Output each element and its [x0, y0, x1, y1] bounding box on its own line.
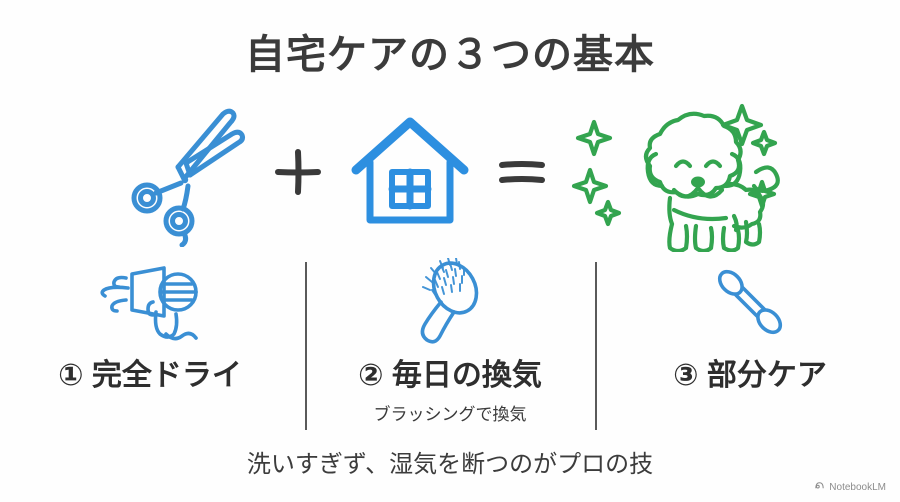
step-column-1: ① 完全ドライ — [0, 256, 300, 436]
notebooklm-label: NotebookLM — [829, 482, 886, 493]
plus-sign-icon — [267, 88, 329, 256]
hair-dryer-icon — [98, 256, 202, 348]
step-column-3: ③ 部分ケア — [600, 256, 900, 436]
step-label-1: ① 完全ドライ — [58, 350, 242, 394]
equation-row — [0, 88, 900, 256]
grooming-scissors-icon — [111, 88, 261, 256]
steps-row: ① 完全ドライ — [0, 256, 900, 436]
fluffy-dog-sparkles-icon — [559, 88, 789, 256]
equals-sign-icon — [491, 88, 553, 256]
house-icon — [335, 88, 485, 256]
notebooklm-watermark: NotebookLM — [814, 480, 886, 494]
cotton-swab-icon — [707, 256, 793, 348]
slide-canvas: 自宅ケアの３つの基本 — [0, 0, 900, 502]
hair-brush-icon — [405, 256, 495, 348]
step-label-3: ③ 部分ケア — [673, 350, 827, 394]
page-title: 自宅ケアの３つの基本 — [0, 22, 900, 80]
notebooklm-logo-icon — [814, 480, 825, 494]
step-label-2: ② 毎日の換気 — [358, 350, 542, 394]
step-column-2: ② 毎日の換気 ブラッシングで換気 — [300, 256, 600, 436]
footer-caption: 洗いすぎず、湿気を断つのがプロの技 — [0, 444, 900, 479]
step-sub-2: ブラッシングで換気 — [374, 400, 527, 425]
